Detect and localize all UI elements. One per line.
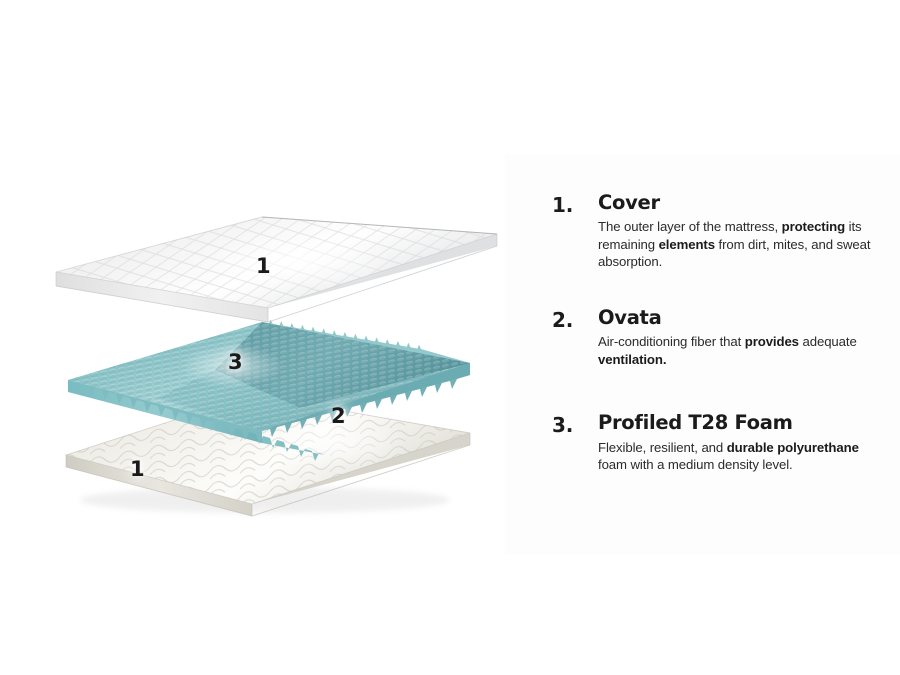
mattress-exploded-illustration bbox=[0, 200, 520, 530]
list-item-profiled-foam: 3. Profiled T28 Foam Flexible, resilient… bbox=[552, 413, 882, 473]
list-item-index: 1. bbox=[552, 193, 598, 215]
mattress-layers-infographic: 1 3 2 1 1. Cover The outer layer of the … bbox=[0, 0, 900, 675]
list-item-index: 2. bbox=[552, 308, 598, 330]
layer-cover bbox=[56, 217, 497, 322]
layer-description-list: 1. Cover The outer layer of the mattress… bbox=[552, 193, 882, 473]
list-item-description: Flexible, resilient, and durable polyure… bbox=[598, 439, 882, 474]
list-item-title: Profiled T28 Foam bbox=[598, 413, 882, 433]
list-item-body: Profiled T28 Foam Flexible, resilient, a… bbox=[598, 413, 882, 473]
list-item-ovata: 2. Ovata Air-conditioning fiber that pro… bbox=[552, 308, 882, 368]
layer-marker-foam: 2 bbox=[331, 406, 346, 427]
layer-marker-cover: 1 bbox=[256, 256, 271, 277]
list-item-title: Cover bbox=[598, 193, 882, 213]
layer-marker-foam-edge: 1 bbox=[130, 459, 145, 480]
layer-marker-ovata: 3 bbox=[228, 352, 243, 373]
list-item-cover: 1. Cover The outer layer of the mattress… bbox=[552, 193, 882, 271]
list-item-body: Cover The outer layer of the mattress, p… bbox=[598, 193, 882, 271]
list-item-body: Ovata Air-conditioning fiber that provid… bbox=[598, 308, 882, 368]
list-item-index: 3. bbox=[552, 413, 598, 435]
list-item-description: The outer layer of the mattress, protect… bbox=[598, 218, 882, 270]
list-item-description: Air-conditioning fiber that provides ade… bbox=[598, 333, 882, 368]
list-item-title: Ovata bbox=[598, 308, 882, 328]
